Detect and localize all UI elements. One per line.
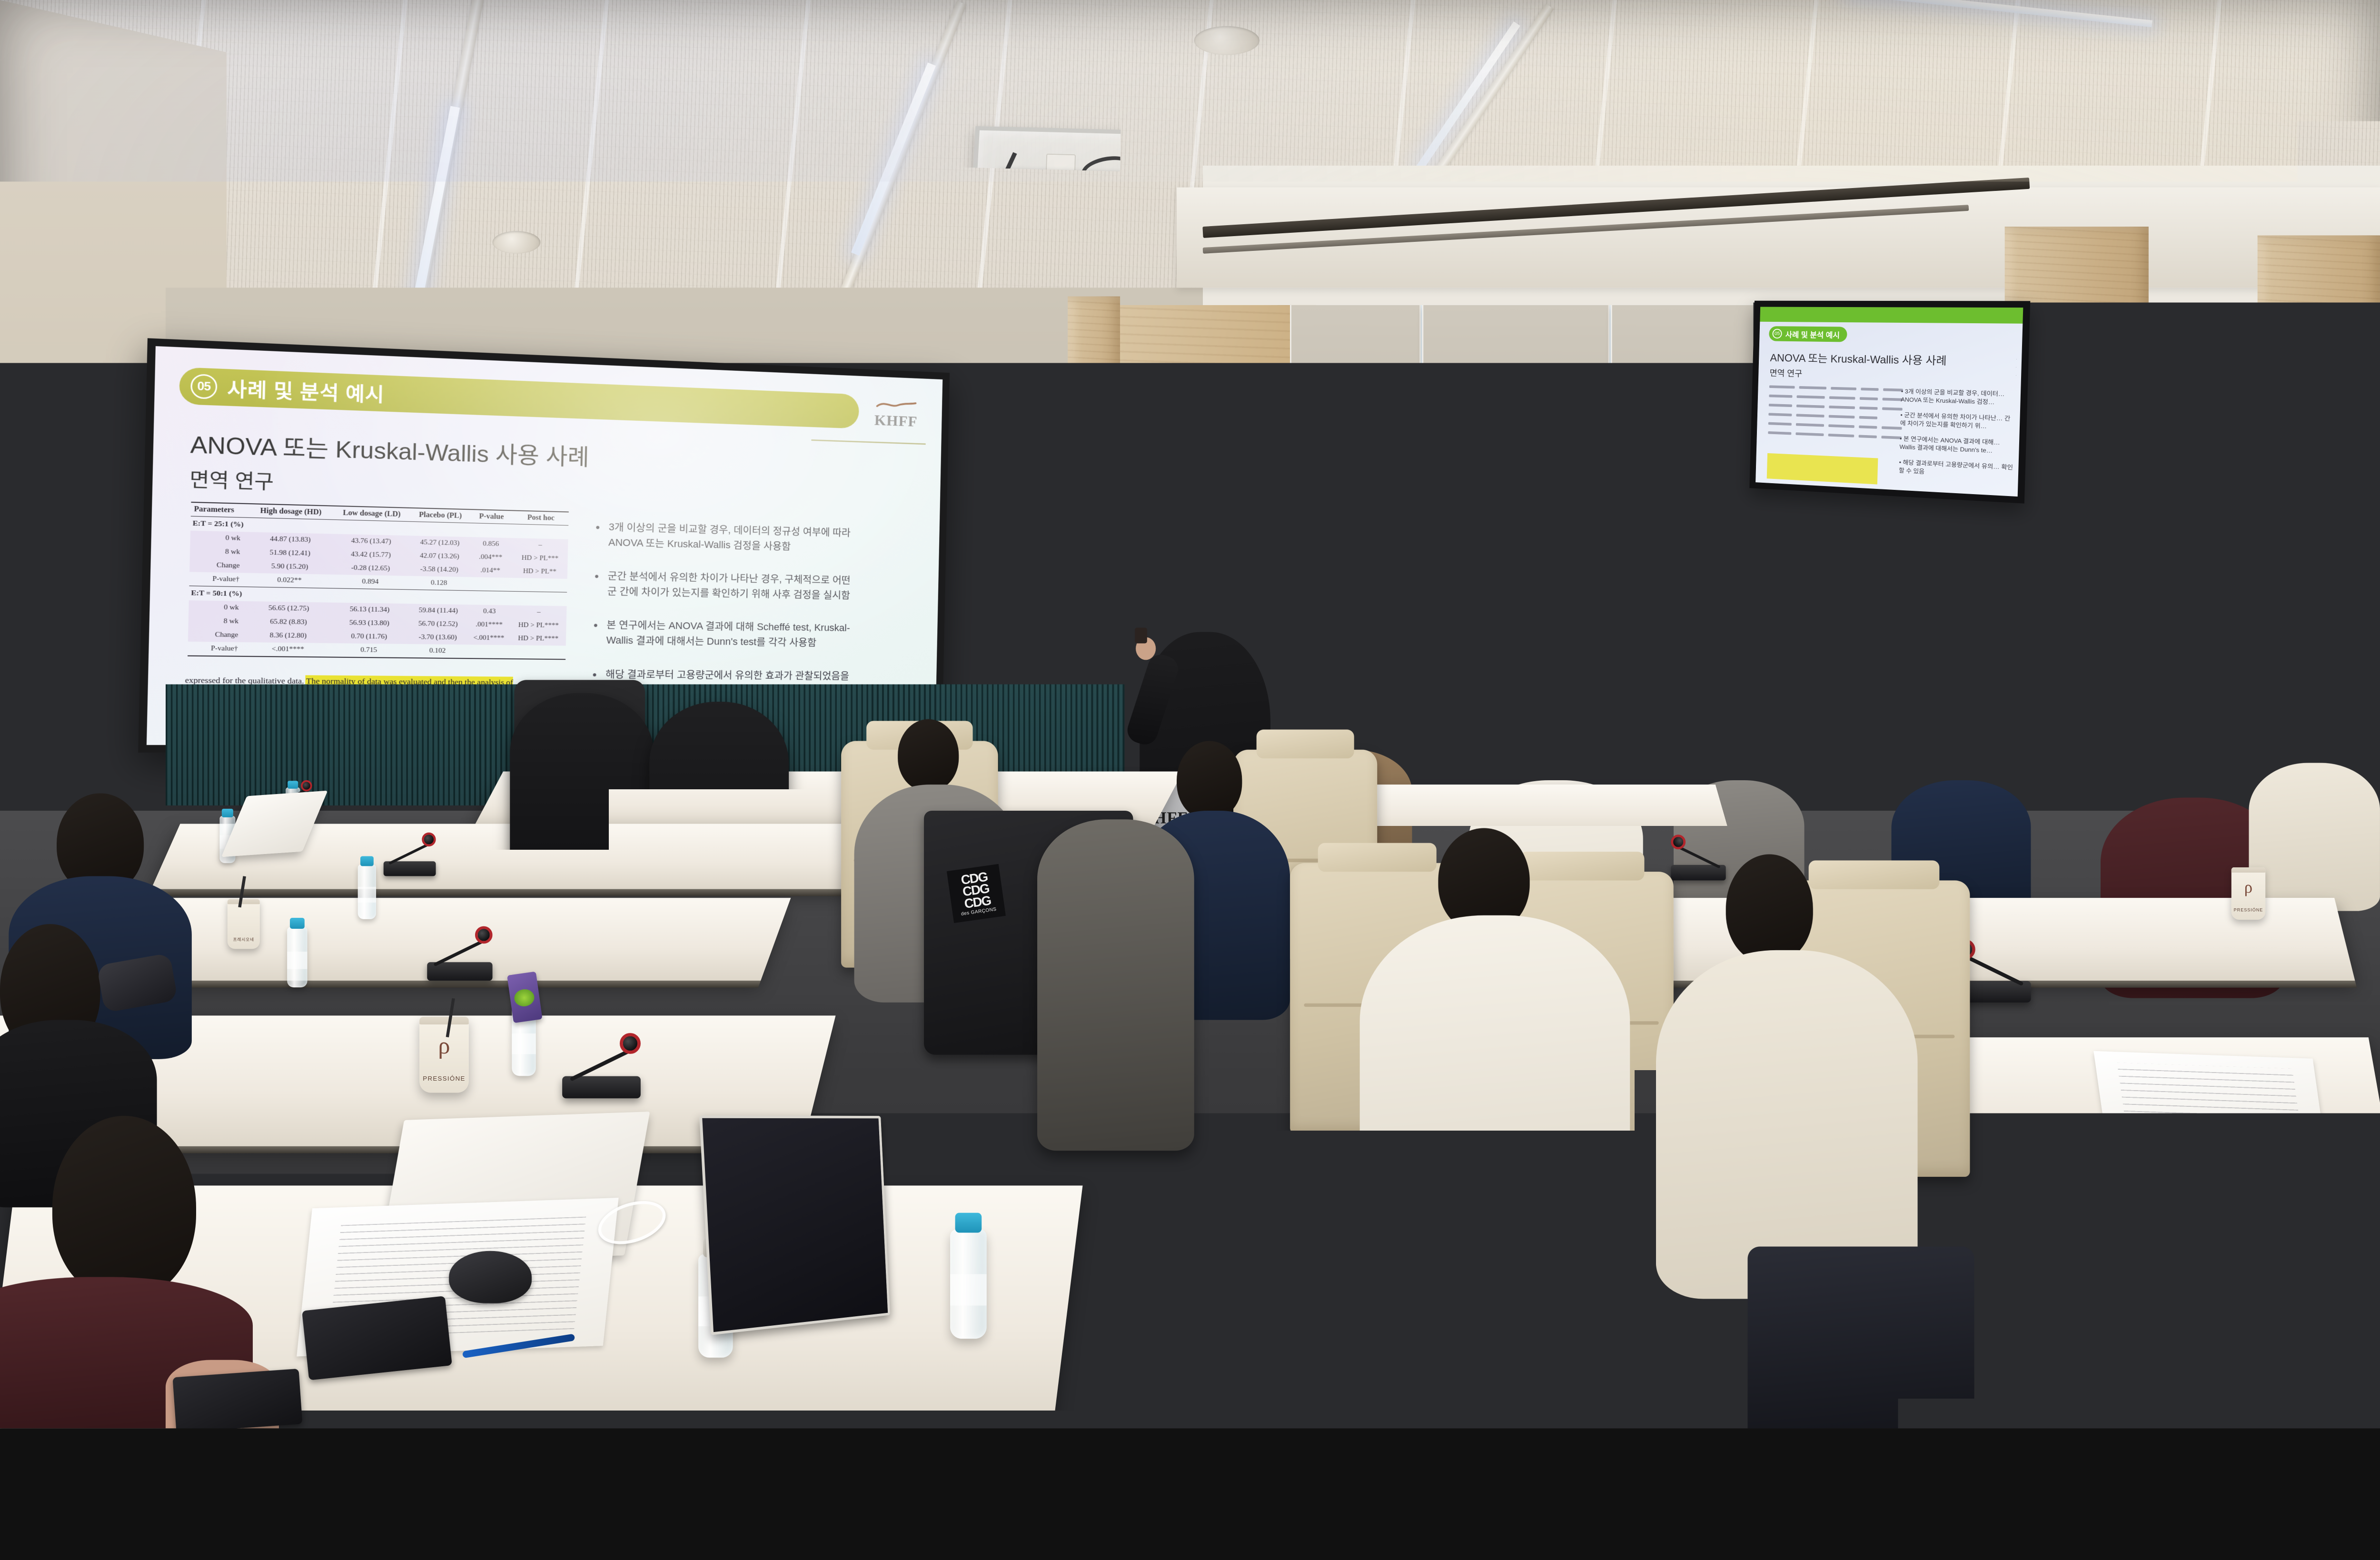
ceiling-speaker <box>1194 26 1259 55</box>
table-column-header: Low dosage (LD) <box>332 506 411 522</box>
table-cell: HD > PL**** <box>510 632 566 646</box>
table-cell: 0.43 <box>467 605 511 618</box>
chair-gas-lift <box>732 1059 750 1129</box>
table-cell: 0.102 <box>408 644 467 658</box>
monitor-bezel: 05 사례 및 분석 예시 ANOVA 또는 Kruskal-Wallis 사용… <box>1749 301 2030 504</box>
monitor-bullet-item: • 해당 결과로부터 고용량군에서 유의… 확인할 수 있음 <box>1899 458 2013 480</box>
chair-base <box>689 1037 837 1068</box>
khff-wave-icon <box>876 400 916 411</box>
cup-brand-label: PRESSIÓNE <box>419 1076 469 1083</box>
table-cell: 0.128 <box>409 576 468 591</box>
table-cell: 0.70 (11.76) <box>329 630 408 644</box>
table-cell: – <box>511 605 566 619</box>
table-cell: Change <box>189 558 248 573</box>
table-cell: -3.70 (13.60) <box>408 631 467 645</box>
slide-subheading: 면역 연구 <box>189 464 274 495</box>
roller-blind[interactable] <box>1290 305 1421 593</box>
attendee-head <box>2162 719 2240 811</box>
table-cell: 0 wk <box>190 531 248 546</box>
hanging-gray-coat <box>1037 819 1194 1151</box>
coffee-cup[interactable]: ρ PRESSIÓNE <box>2231 867 2265 920</box>
khff-logo: KHFF <box>874 400 918 430</box>
attendee-head <box>1726 855 1813 964</box>
table-cell: 0.894 <box>331 575 410 590</box>
table-cell: -0.28 (12.65) <box>331 561 410 576</box>
table-column-header: Placebo (PL) <box>411 508 470 523</box>
table-cell: 56.65 (12.75) <box>247 601 330 616</box>
table-cell: <.001**** <box>467 631 511 645</box>
attendee-head <box>1177 741 1242 819</box>
cup-logo-mark: ρ <box>2244 878 2252 897</box>
header-rule <box>811 439 925 445</box>
attendee-head <box>898 719 959 791</box>
attendee-head <box>1926 702 2001 789</box>
cup-brand-label-kr: 프레시오네 <box>228 936 260 942</box>
cup-brand-label: PRESSIÓNE <box>2231 908 2265 913</box>
attendee-body <box>2249 763 2380 911</box>
monitor-bullet-item: • 3개 이상의 군을 비교할 경우, 데이터… ANOVA 또는 Kruska… <box>1901 388 2016 407</box>
table-body: E:T = 25:1 (%)0 wk44.87 (13.83)43.76 (13… <box>188 516 568 659</box>
attendee-head <box>1700 706 1769 789</box>
khff-wordmark: KHFF <box>874 412 918 430</box>
caster-wheel <box>811 1133 839 1162</box>
slide-section-number: 05 <box>190 374 218 399</box>
table-cell: 59.84 (11.44) <box>408 604 467 618</box>
monitor-subheading: 면역 연구 <box>1769 367 1802 379</box>
computer-mouse[interactable] <box>449 1251 532 1303</box>
water-bottle[interactable] <box>287 927 307 987</box>
table-cell: -3.58 (14.20) <box>409 563 468 577</box>
water-bottle[interactable] <box>358 864 376 919</box>
table-cell: 44.87 (13.83) <box>248 532 332 547</box>
slide-bullet-item: 군간 분석에서 유의한 차이가 나타난 경우, 구체적으로 어떤 군 간에 차이… <box>592 568 856 603</box>
table-cell: 43.76 (13.47) <box>332 534 410 549</box>
caster-wheel <box>663 1133 691 1162</box>
table-cell <box>510 645 565 659</box>
ceiling-speaker <box>493 231 541 254</box>
attendee-head <box>1517 693 1595 785</box>
table-cell: <.001**** <box>246 642 329 657</box>
projector-unit <box>996 169 1133 235</box>
table-cell: P-value† <box>189 572 248 586</box>
table-cell: 5.90 (15.20) <box>248 559 331 575</box>
table-column-header: Post hoc <box>513 510 569 525</box>
monitor-heading: ANOVA 또는 Kruskal-Wallis 사용 사례 <box>1770 349 1947 368</box>
table-cell: 8.36 (12.80) <box>246 628 330 643</box>
coffee-cup[interactable]: ρ PRESSIÓNE <box>419 1017 469 1093</box>
table-cell: 0.715 <box>329 643 408 658</box>
table-cell: .014** <box>468 564 512 578</box>
table-cell: 56.70 (12.52) <box>408 617 467 631</box>
monitor-highlight-block <box>1767 453 1878 485</box>
handout-paper <box>591 1063 847 1159</box>
chair-star-base <box>671 1120 828 1140</box>
table-cell <box>511 578 567 592</box>
roller-blind[interactable] <box>1422 305 1610 593</box>
monitor-top-bar <box>1760 307 2023 324</box>
table-column-header: High dosage (HD) <box>249 504 333 519</box>
table-cell: 56.13 (11.34) <box>330 603 409 617</box>
cup-lid <box>2231 867 2265 873</box>
coffee-cup-kr[interactable]: 프레시오네 <box>228 899 260 949</box>
smartphone-in-hand[interactable] <box>173 1369 303 1428</box>
table-cell: HD > PL** <box>512 565 567 579</box>
monitor-section-pill: 05 사례 및 분석 예시 <box>1769 326 1847 342</box>
monitor-section-title: 사례 및 분석 예시 <box>1785 328 1840 340</box>
attendee-jeans <box>1747 1247 1974 1429</box>
seminar-room-photo: 05 사례 및 분석 예시 KHFF ANOVA 또는 Kruskal-Wall… <box>0 0 2380 1428</box>
slide-bullet-item: 본 연구에서는 ANOVA 결과에 대해 Scheffé test, Krusk… <box>591 617 855 651</box>
cup-lid <box>419 1017 469 1024</box>
table-cell <box>466 645 510 659</box>
table-cell: 0.856 <box>469 537 513 551</box>
water-bottle[interactable] <box>950 1229 987 1339</box>
wall-mounted-monitor: 05 사례 및 분석 예시 ANOVA 또는 Kruskal-Wallis 사용… <box>1749 301 2030 504</box>
caster-wheel <box>1220 1225 1251 1255</box>
slide-section-pill: 05 사례 및 분석 예시 <box>179 367 859 429</box>
presenter-remote[interactable] <box>1135 627 1147 643</box>
table-cell: 56.93 (13.80) <box>330 616 409 630</box>
table-cell <box>468 577 512 591</box>
cup-lid <box>228 899 260 904</box>
table-cell: 8 wk <box>190 545 248 559</box>
table-cell: 8 wk <box>188 614 247 628</box>
handbag[interactable] <box>2153 1151 2380 1334</box>
table-column-header: P-value <box>470 509 514 524</box>
attendee-head <box>2280 684 2358 771</box>
table-cell: HD > PL*** <box>512 551 568 566</box>
table-cell: .004*** <box>469 550 513 565</box>
caster-wheel <box>1090 1233 1120 1264</box>
backpack-logo: CDG CDG CDG des GARÇONS <box>947 864 1006 923</box>
monitor-bullets: • 3개 이상의 군을 비교할 경우, 데이터… ANOVA 또는 Kruska… <box>1898 388 2015 488</box>
table-column-header: Parameters <box>191 502 249 517</box>
table-cell: 65.82 (8.83) <box>247 615 330 630</box>
monitor-bullet-item: • 본 연구에서는 ANOVA 결과에 대해… Wallis 결과에 대해서는 … <box>1899 435 2014 456</box>
handout-paper <box>2093 1051 2326 1150</box>
results-table-wrapper: ParametersHigh dosage (HD)Low dosage (LD… <box>188 502 569 660</box>
results-table: ParametersHigh dosage (HD)Low dosage (LD… <box>188 502 569 660</box>
monitor-bullet-item: • 군간 분석에서 유의한 차이가 나타난… 간에 차이가 있는지를 확인하기 … <box>1900 411 2015 431</box>
table-cell: HD > PL**** <box>511 618 566 632</box>
monitor-section-number: 05 <box>1772 329 1782 339</box>
table-cell: 45.27 (12.03) <box>410 536 469 550</box>
table-cell: P-value† <box>188 642 246 656</box>
table-cell: 42.07 (13.26) <box>410 549 469 564</box>
monitor-slide: 05 사례 및 분석 예시 ANOVA 또는 Kruskal-Wallis 사용… <box>1755 307 2023 497</box>
table-cell: 43.42 (15.77) <box>331 547 410 563</box>
slide-section-title: 사례 및 분석 예시 <box>227 373 385 408</box>
hanging-black-coat <box>649 702 789 981</box>
table-cell: Change <box>188 628 247 642</box>
table-cell: 0.022** <box>248 573 331 588</box>
hanging-black-coat <box>510 693 654 964</box>
attendee-puffer-jacket <box>1360 915 1630 1247</box>
attendee-head-foreground <box>52 1116 196 1299</box>
table-cell: 51.98 (12.41) <box>248 546 332 561</box>
table-cell: – <box>512 538 568 552</box>
table-cell: 0 wk <box>188 600 247 615</box>
table-cell: .001**** <box>467 618 511 632</box>
ceiling-projector-housing <box>968 126 1177 260</box>
slide-bullet-item: 3개 이상의 군을 비교할 경우, 데이터의 정규성 여부에 따라 ANOVA … <box>593 519 857 556</box>
